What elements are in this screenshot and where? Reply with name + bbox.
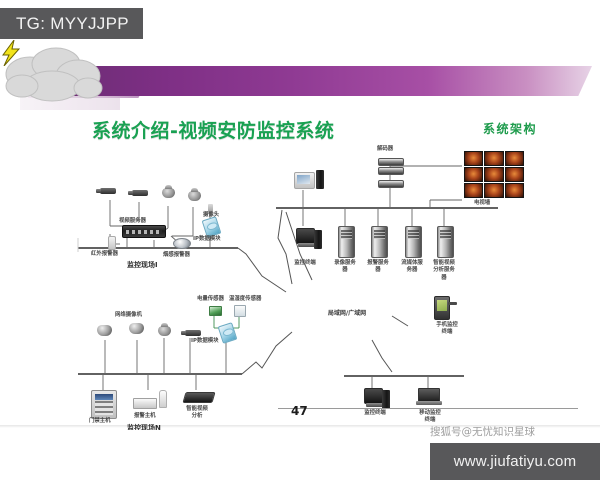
pc-tower-icon [314, 230, 322, 249]
label-temp-humidity-sensor: 温湿度传感器 [229, 296, 261, 303]
monitor-icon [364, 388, 383, 404]
tg-watermark-badge: TG: MYYJJPP [0, 8, 143, 39]
label-video-analytics-server: 智能视频分析服务器 [431, 260, 457, 282]
pc-tower-icon [316, 170, 324, 189]
temp-humidity-sensor-icon [234, 305, 246, 317]
video-analytics-box-icon [182, 392, 215, 403]
network-topology-diagram: 视频服务器 红外报警器 烟感报警器 摄像头 IP数据模块 监控现场I 网络摄像机… [0, 40, 600, 430]
label-alarm-host: 报警主机 [134, 413, 156, 420]
tv-wall-cell [505, 183, 524, 198]
url-text: www.jiufatiyu.com [454, 453, 577, 470]
label-infrared-alarm: 红外报警器 [91, 251, 118, 258]
dome-camera-icon [188, 191, 201, 201]
mobile-antenna-icon [448, 302, 457, 305]
dome-camera-icon [162, 188, 175, 198]
server-icon [371, 226, 388, 258]
bullet-camera-icon [185, 330, 201, 336]
bullet-camera-icon [132, 190, 148, 196]
decoder-icon [378, 167, 404, 175]
tv-wall-cell [505, 151, 524, 166]
label-network-camera: 网络摄像机 [115, 312, 142, 319]
url-watermark-bar: www.jiufatiyu.com [430, 443, 600, 480]
label-mobile-terminal: 手机监控终端 [434, 322, 460, 337]
box-camera-icon [158, 326, 171, 336]
source-watermark: 搜狐号@无忧知识星球 [430, 424, 535, 439]
power-sensor-icon [209, 306, 222, 316]
ptz-camera-icon [129, 323, 144, 334]
alarm-host-icon [133, 398, 157, 409]
label-mobile-monitor-terminal: 移动监控终端 [417, 410, 443, 425]
bullet-camera-icon [100, 188, 116, 194]
tv-wall-cell [505, 167, 524, 182]
smoke-alarm-icon [173, 238, 191, 249]
wireless-lightning-icon [0, 40, 22, 66]
label-remote-monitor-terminal: 监控终端 [362, 410, 388, 417]
pc-tower-icon [382, 390, 390, 409]
label-monitor-terminal: 监控终端 [292, 260, 318, 267]
tv-wall-cell [464, 151, 483, 166]
label-decoder: 解码器 [377, 146, 393, 153]
tv-wall-cell [464, 183, 483, 198]
access-control-host-icon [91, 390, 117, 419]
tv-wall-cell [484, 151, 503, 166]
tv-wall [464, 151, 524, 198]
label-video-analytics: 智能视频分析 [184, 406, 210, 421]
server-icon [338, 226, 355, 258]
tv-wall-cell [464, 167, 483, 182]
server-icon [437, 226, 454, 258]
page-number: 47 [291, 404, 308, 418]
label-tv-wall: 电视墙 [474, 200, 490, 207]
tg-badge-text: TG: MYYJJPP [16, 14, 129, 34]
label-video-server: 视频服务器 [119, 218, 146, 225]
alarm-siren-icon [159, 390, 167, 408]
label-site-1: 监控现场I [127, 261, 158, 270]
label-streaming-server: 流媒体服务器 [399, 260, 425, 275]
mobile-phone-icon [434, 296, 450, 320]
label-lan-wan: 局域网/广域网 [312, 308, 382, 317]
tv-wall-cell [484, 167, 503, 182]
laptop-icon [418, 388, 440, 402]
monitor-icon [294, 172, 315, 189]
label-alarm-server: 报警服务器 [365, 260, 391, 275]
tv-wall-cell [484, 183, 503, 198]
presentation-slide: 系统介绍-视频安防监控系统 系统架构 [0, 40, 600, 430]
decoder-icon [378, 180, 404, 188]
footer-divider [278, 408, 578, 409]
label-recording-server: 录像服务器 [332, 260, 358, 275]
ptz-camera-icon [97, 325, 112, 336]
label-power-sensor: 电量传感器 [197, 296, 224, 303]
label-ip-data-module-n: IP数据模块 [191, 338, 219, 345]
video-server-switch-icon [122, 225, 166, 238]
server-icon [405, 226, 422, 258]
decoder-icon [378, 158, 404, 166]
label-smoke-alarm: 烟感报警器 [163, 252, 190, 259]
monitor-terminal-icon [296, 228, 315, 244]
infrared-alarm-icon [108, 236, 116, 250]
label-ip-data-module: IP数据模块 [193, 236, 221, 243]
label-camera: 摄像头 [203, 212, 219, 219]
